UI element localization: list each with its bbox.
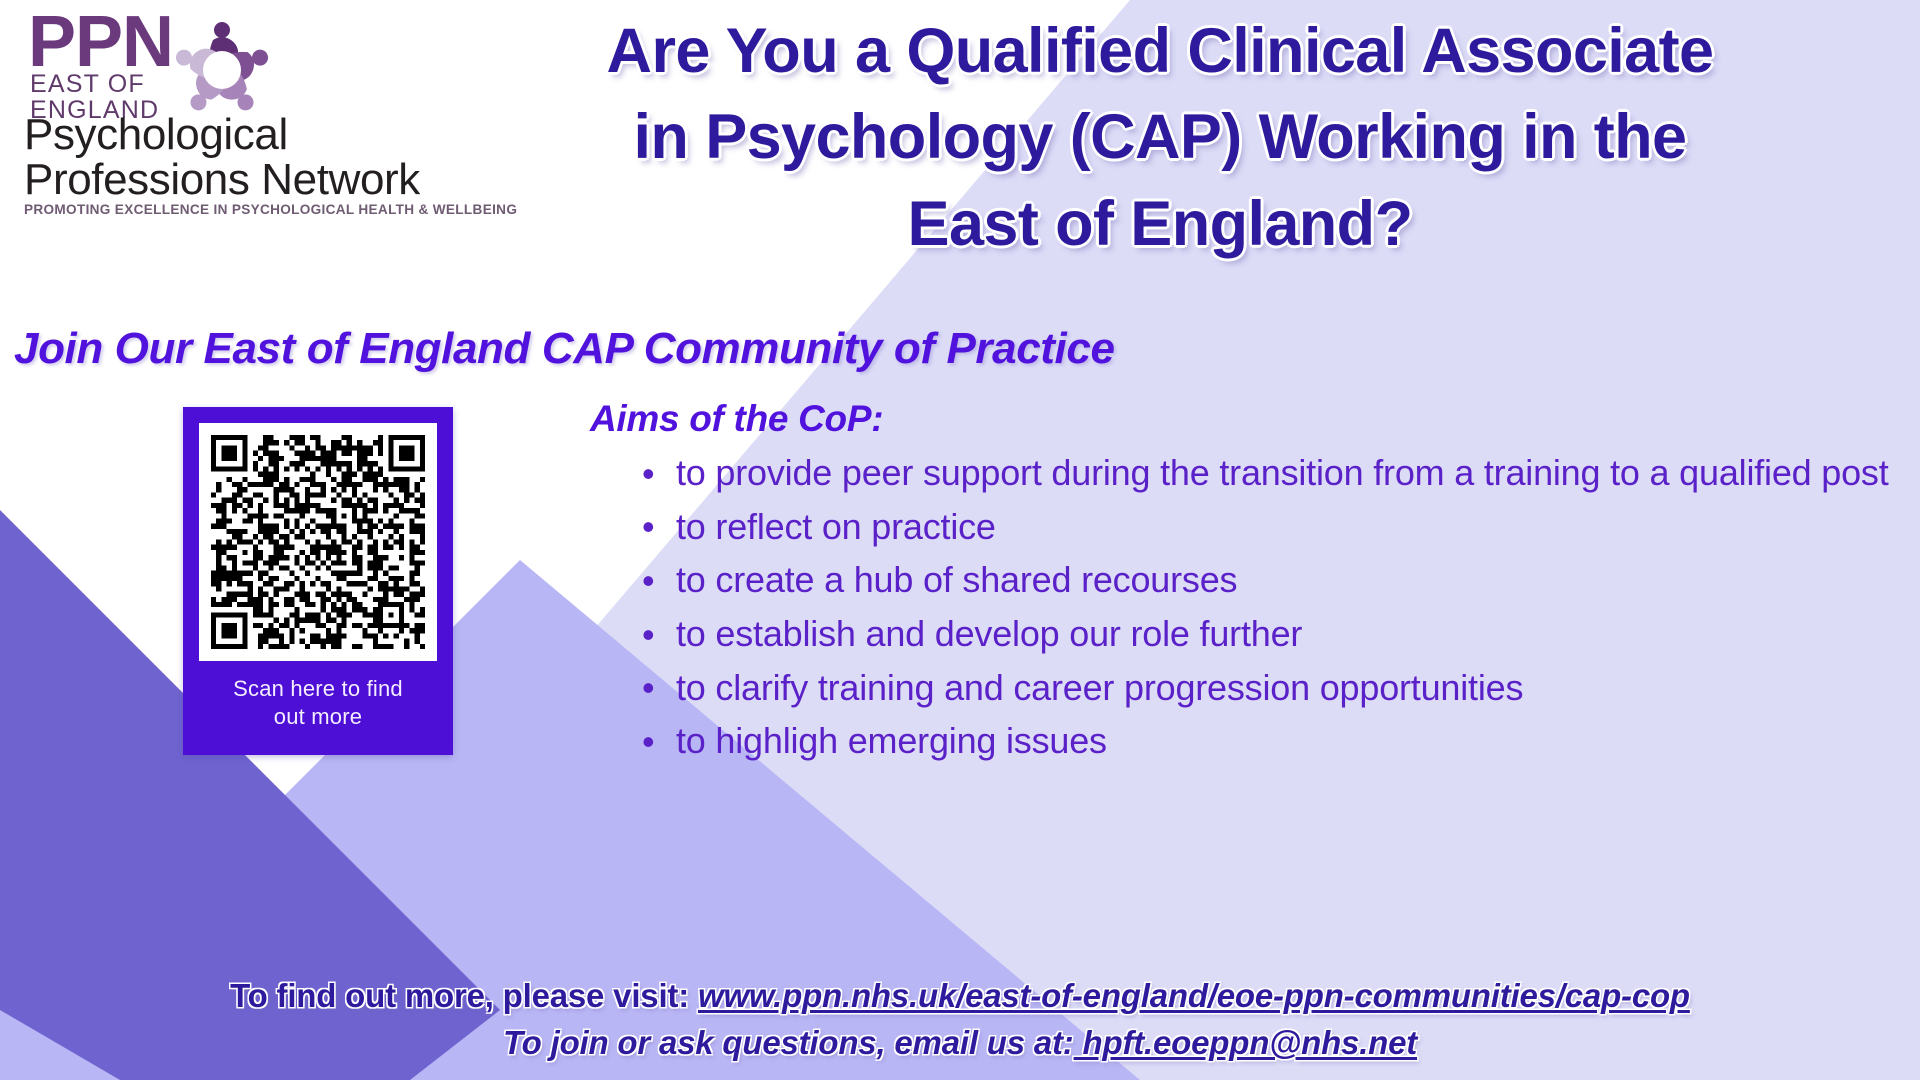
footer-website-line: To find out more, please visit: www.ppn.… (0, 975, 1920, 1018)
aims-list-item-label: to highligh emerging issues (676, 720, 1107, 761)
page-title: Are You a Qualified Clinical Associate i… (400, 0, 1920, 267)
logo-region-line1: EAST OF (30, 72, 159, 98)
aims-list-item-label: to create a hub of shared recourses (676, 559, 1237, 600)
ppn-logo: PPN EAST OF ENGLAND (10, 4, 430, 222)
bullet-icon: • (642, 663, 654, 713)
aims-heading: Aims of the CoP: (590, 398, 1920, 440)
aims-list-item: •to highligh emerging issues (642, 716, 1920, 766)
aims-list-item-label: to reflect on practice (676, 506, 996, 547)
aims-list: •to provide peer support during the tran… (590, 448, 1920, 766)
bullet-icon: • (642, 502, 654, 552)
footer-website-prefix: To find out more, please visit: (230, 977, 698, 1014)
bullet-icon: • (642, 717, 654, 767)
aims-list-item: •to reflect on practice (642, 502, 1920, 552)
poster-canvas: PPN EAST OF ENGLAND (0, 0, 1920, 1080)
page-title-line3: East of England? (400, 181, 1920, 267)
qr-caption-line1: Scan here to find (183, 675, 453, 703)
page-subtitle: Join Our East of England CAP Community o… (14, 324, 1115, 374)
qr-code-card[interactable]: Scan here to find out more (183, 407, 453, 755)
bullet-icon: • (642, 556, 654, 606)
logo-org-line1: Psychological (24, 112, 420, 157)
aims-list-item: •to provide peer support during the tran… (642, 448, 1920, 498)
qr-code-image (211, 435, 425, 649)
page-title-line1: Are You a Qualified Clinical Associate (400, 8, 1920, 94)
aims-section: Aims of the CoP: •to provide peer suppor… (590, 398, 1920, 770)
logo-org-name: Psychological Professions Network (24, 112, 420, 203)
page-title-line2: in Psychology (CAP) Working in the (400, 94, 1920, 180)
qr-code-frame (199, 423, 437, 661)
footer-email-line: To join or ask questions, email us at: h… (0, 1022, 1920, 1065)
qr-caption-line2: out more (183, 703, 453, 731)
logo-acronym: PPN (28, 6, 173, 78)
aims-list-item-label: to provide peer support during the trans… (676, 452, 1889, 493)
footer-website-link[interactable]: www.ppn.nhs.uk/east-of-england/eoe-ppn-c… (698, 977, 1690, 1014)
aims-list-item: •to create a hub of shared recourses (642, 555, 1920, 605)
bullet-icon: • (642, 449, 654, 499)
aims-list-item: •to establish and develop our role furth… (642, 609, 1920, 659)
footer-email-prefix: To join or ask questions, email us at: (503, 1024, 1074, 1061)
aims-list-item-label: to clarify training and career progressi… (676, 667, 1523, 708)
logo-org-line2: Professions Network (24, 157, 420, 202)
footer-email-link[interactable]: hpft.eoeppn@nhs.net (1074, 1024, 1417, 1061)
bullet-icon: • (642, 610, 654, 660)
qr-code-caption: Scan here to find out more (183, 675, 453, 731)
footer: To find out more, please visit: www.ppn.… (0, 975, 1920, 1065)
aims-list-item-label: to establish and develop our role furthe… (676, 613, 1302, 654)
aims-list-item: •to clarify training and career progress… (642, 663, 1920, 713)
